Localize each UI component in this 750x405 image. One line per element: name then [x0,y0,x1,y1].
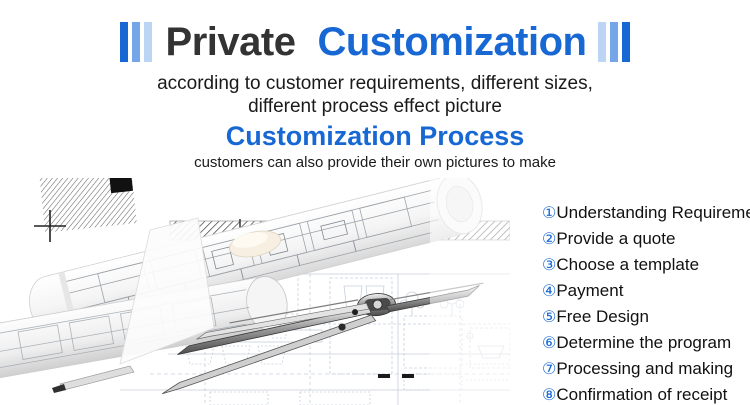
title-word-customization: Customization [317,22,586,62]
bar-light-icon [598,22,606,62]
step-number: ⑧ [542,383,556,405]
bar-mid-icon [132,22,140,62]
process-steps-list: ① Understanding Requirements ② Provide a… [502,200,750,405]
step-label: Choose a template [556,252,699,278]
list-item: ① Understanding Requirements [542,200,750,226]
step-label: Free Design [556,304,649,330]
step-number: ③ [542,253,556,279]
list-item: ⑦ Processing and making [542,356,750,382]
list-item: ⑧ Confirmation of receipt [542,382,750,405]
promo-banner: Private Customization according to custo… [0,0,750,405]
list-item: ② Provide a quote [542,226,750,252]
step-label: Understanding Requirements [556,200,750,226]
list-item: ⑤ Free Design [542,304,750,330]
section-heading: Customization Process [0,122,750,152]
title-bars-left [120,22,152,62]
subtitle-line-2: different process effect picture [0,95,750,118]
step-number: ⑤ [542,305,556,331]
title-bars-right [598,22,630,62]
subtitle-line-1: according to customer requirements, diff… [0,72,750,95]
step-number: ④ [542,279,556,305]
bar-dark-icon [120,22,128,62]
list-item: ⑥ Determine the program [542,330,750,356]
step-label: Determine the program [556,330,731,356]
banner-subtitle: according to customer requirements, diff… [0,72,750,118]
section-note: customers can also provide their own pic… [0,154,750,171]
bar-dark-icon [622,22,630,62]
list-item: ④ Payment [542,278,750,304]
step-number: ⑦ [542,357,556,383]
step-label: Confirmation of receipt [556,382,727,405]
banner-title-row: Private Customization [0,18,750,66]
step-number: ② [542,227,556,253]
step-label: Payment [556,278,623,304]
bar-light-icon [144,22,152,62]
blueprint-photo [0,178,510,405]
bar-mid-icon [610,22,618,62]
list-item: ③ Choose a template [542,252,750,278]
step-number: ① [542,201,556,227]
step-label: Processing and making [556,356,733,382]
title-word-private: Private [166,22,296,62]
step-number: ⑥ [542,331,556,357]
step-label: Provide a quote [556,226,675,252]
blueprint-illustration [0,178,510,405]
